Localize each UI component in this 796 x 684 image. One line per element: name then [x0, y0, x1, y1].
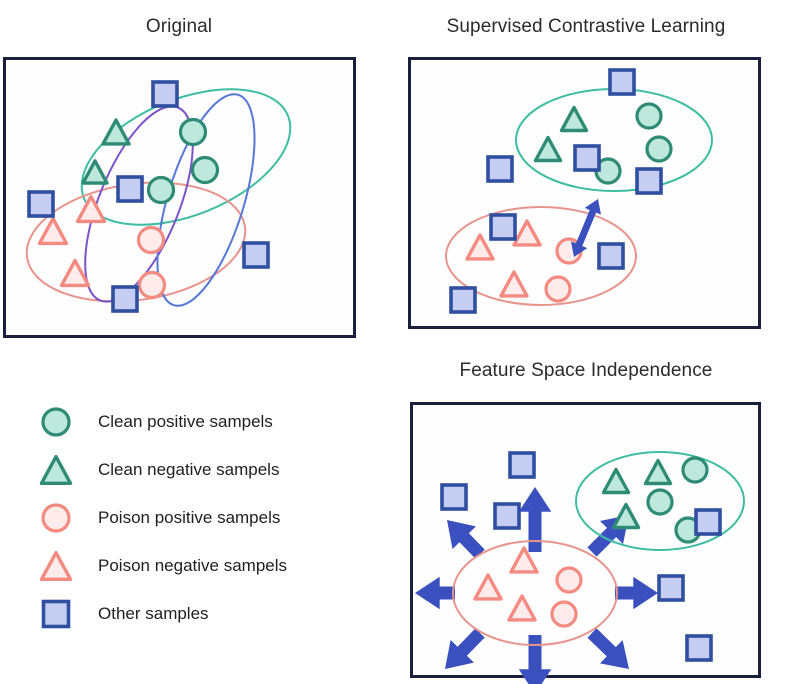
clean-positive-circle — [648, 490, 672, 514]
figure-root: Original Supervised Contrastive Learning… — [0, 0, 796, 683]
scatter-canvas-feature-space-independence — [410, 402, 761, 684]
legend-item: Poison positive sampels — [34, 494, 374, 542]
square-outline-icon — [34, 594, 78, 634]
legend-item-label: Poison positive sampels — [78, 508, 280, 528]
legend-item-label: Poison negative sampels — [78, 556, 287, 576]
repulsion-arrow-down-left-shape — [445, 629, 485, 670]
triangle-outline-icon — [42, 457, 71, 484]
other-square — [687, 636, 711, 660]
clean-negative-triangle — [604, 470, 629, 493]
clean-positive-circle — [637, 104, 661, 128]
clean-cluster-ellipse — [62, 62, 309, 252]
legend: Clean positive sampelsClean negative sam… — [34, 398, 374, 638]
other-square — [610, 70, 634, 94]
legend-item: Other samples — [34, 590, 374, 638]
clean-positive-circle — [683, 458, 707, 482]
other-square — [244, 243, 268, 267]
poison-negative-triangle — [475, 575, 501, 599]
other-square — [696, 510, 720, 534]
other-square — [491, 215, 515, 239]
poison-negative-triangle — [509, 596, 535, 620]
repulsion-arrow-left-shape — [415, 577, 455, 610]
square-outline-icon — [44, 602, 69, 627]
repulsion-arrow-up-left-shape — [447, 520, 485, 559]
triangle-outline-icon — [34, 546, 78, 586]
poison-positive-circle — [552, 602, 576, 626]
separation-arrow — [571, 199, 601, 257]
legend-item: Clean positive sampels — [34, 398, 374, 446]
repulsion-arrow-left — [415, 577, 455, 610]
repulsion-arrow-down-right-shape — [588, 628, 630, 669]
legend-item-label: Clean negative sampels — [78, 460, 279, 480]
poison-negative-triangle — [501, 272, 527, 296]
poison-negative-triangle — [514, 221, 540, 245]
other-square — [118, 177, 142, 201]
repulsion-arrow-down-left — [445, 629, 485, 670]
other-square — [113, 287, 137, 311]
legend-item-label: Other samples — [78, 604, 209, 624]
legend-item-label: Clean positive sampels — [78, 412, 273, 432]
clean-negative-triangle — [646, 461, 671, 484]
other-square — [659, 576, 683, 600]
other-square — [495, 504, 519, 528]
panel-title-feature-space-independence: Feature Space Independence — [400, 360, 772, 382]
poison-positive-circle — [557, 568, 581, 592]
circle-outline-icon-glyph — [36, 499, 76, 537]
square-outline-icon-glyph — [36, 595, 76, 633]
circle-outline-icon — [34, 498, 78, 538]
repulsion-arrow-up-left — [447, 520, 485, 559]
circle-outline-icon — [34, 402, 78, 442]
other-square — [488, 157, 512, 181]
legend-item: Clean negative sampels — [34, 446, 374, 494]
other-square — [29, 192, 53, 216]
repulsion-arrow-down-shape — [519, 635, 552, 684]
clean-positive-circle — [181, 120, 206, 145]
other-square — [153, 82, 177, 106]
clean-positive-circle — [193, 158, 218, 183]
panel-title-supervised-contrastive-learning: Supervised Contrastive Learning — [400, 16, 772, 38]
repulsion-arrow-right-shape — [615, 577, 658, 610]
circle-outline-icon — [43, 409, 69, 435]
triangle-outline-icon-glyph — [36, 547, 76, 585]
legend-item: Poison negative sampels — [34, 542, 374, 590]
other-square — [451, 288, 475, 312]
clean-positive-circle — [149, 178, 174, 203]
repulsion-arrow-right — [615, 577, 658, 610]
other-square — [442, 485, 466, 509]
circle-outline-icon — [43, 505, 69, 531]
scatter-canvas-original — [3, 57, 356, 338]
panel-title-original: Original — [0, 16, 358, 38]
other-square — [599, 244, 623, 268]
repulsion-arrow-down-right — [588, 628, 630, 669]
clean-negative-triangle — [614, 505, 639, 528]
poison-negative-triangle — [40, 219, 67, 244]
triangle-outline-icon — [42, 553, 71, 580]
clean-negative-triangle — [562, 108, 587, 131]
scatter-canvas-supervised-contrastive-learning — [408, 57, 761, 329]
repulsion-arrow-down — [519, 635, 552, 684]
other-square — [575, 146, 599, 170]
poison-positive-circle — [546, 277, 570, 301]
poison-positive-circle — [140, 273, 165, 298]
triangle-outline-icon — [34, 450, 78, 490]
other-square — [510, 453, 534, 477]
poison-negative-triangle — [467, 235, 493, 259]
other-square — [637, 169, 661, 193]
clean-positive-circle — [647, 137, 671, 161]
poison-negative-triangle — [78, 197, 105, 222]
circle-outline-icon-glyph — [36, 403, 76, 441]
clean-negative-triangle — [536, 138, 561, 161]
separation-arrow-shape — [571, 199, 601, 257]
poison-positive-circle — [139, 228, 164, 253]
triangle-outline-icon-glyph — [36, 451, 76, 489]
